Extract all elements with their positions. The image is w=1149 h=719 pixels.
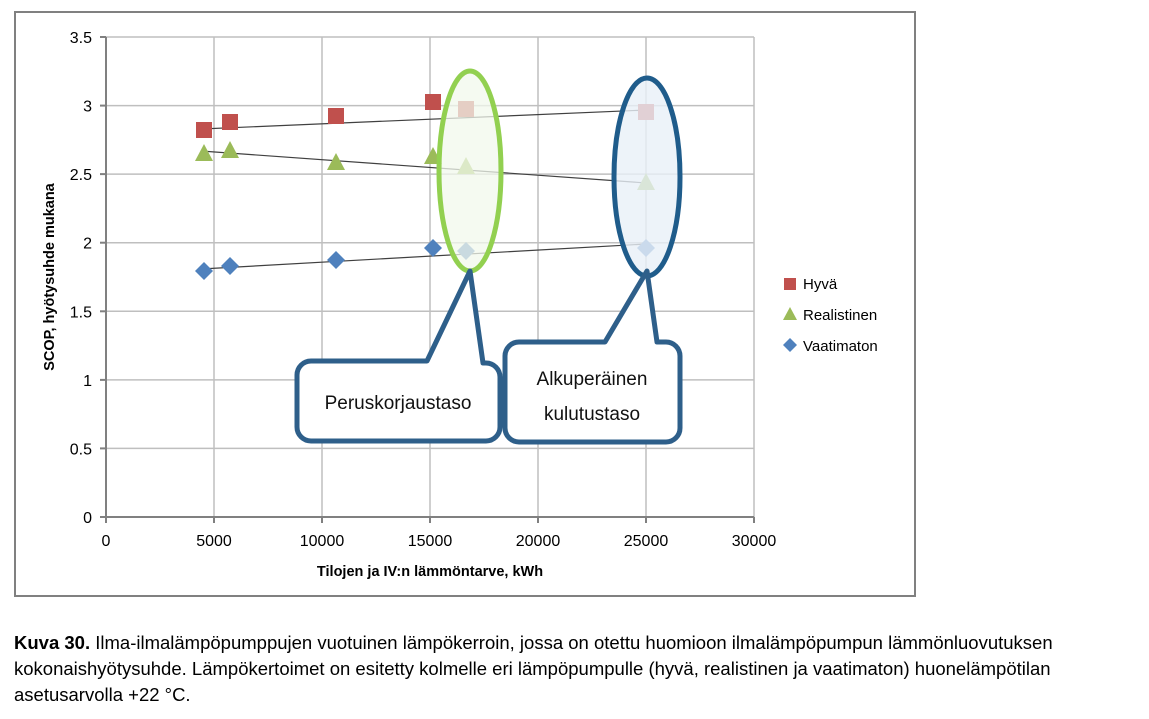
figure-caption-number: Kuva 30.: [14, 632, 90, 653]
legend-item-realistinen[interactable]: Realistinen: [783, 307, 877, 324]
y-tick-label: 2.5: [70, 167, 92, 184]
callout-label-alkuperainen-line1: Alkuperäinen: [537, 369, 648, 390]
x-tick-labels: 0 5000 10000 15000 20000 25000 30000: [102, 533, 777, 550]
y-tick-labels: 3.5 3 2.5 2 1.5 1 0.5 0: [70, 30, 92, 527]
legend-label-realistinen: Realistinen: [803, 307, 877, 324]
figure-page: 3.5 3 2.5 2 1.5 1 0.5 0 0 5000 10000 150…: [0, 0, 1149, 719]
figure-caption: Kuva 30. Ilma-ilmalämpöpumppujen vuotuin…: [14, 630, 1139, 708]
y-tick-label: 1: [83, 373, 92, 390]
legend-item-vaatimaton[interactable]: Vaatimaton: [783, 338, 878, 355]
y-tick-label: 0.5: [70, 441, 92, 458]
legend-label-vaatimaton: Vaatimaton: [803, 338, 878, 355]
x-tick-label: 25000: [624, 533, 669, 550]
highlight-ellipse-alkuperainen-kulutustaso: [614, 78, 680, 276]
x-tick-label: 10000: [300, 533, 345, 550]
x-tick-label: 5000: [196, 533, 232, 550]
callout-label-peruskorjaustaso: Peruskorjaustaso: [325, 393, 472, 414]
y-tick-label: 3: [83, 99, 92, 116]
chart-legend: Hyvä Realistinen Vaatimaton: [783, 276, 878, 355]
x-axis-title: Tilojen ja IV:n lämmöntarve, kWh: [317, 564, 543, 580]
legend-label-hyva: Hyvä: [803, 276, 838, 293]
x-tick-label: 30000: [732, 533, 777, 550]
x-tick-label: 0: [102, 533, 111, 550]
callout-label-alkuperainen-line2: kulutustaso: [544, 404, 640, 425]
legend-item-hyva[interactable]: Hyvä: [784, 276, 838, 293]
y-tick-label: 3.5: [70, 30, 92, 47]
y-tick-label: 2: [83, 236, 92, 253]
data-point-hyva: [328, 108, 344, 124]
y-axis-title: SCOP, hyötysuhde mukana: [42, 182, 58, 370]
legend-swatch-hyva: [784, 278, 796, 290]
legend-swatch-vaatimaton: [783, 338, 797, 352]
x-tick-label: 20000: [516, 533, 561, 550]
data-point-hyva: [196, 122, 212, 138]
chart-frame: 3.5 3 2.5 2 1.5 1 0.5 0 0 5000 10000 150…: [14, 11, 916, 597]
figure-caption-text: Ilma-ilmalämpöpumppujen vuotuinen lämpök…: [14, 632, 1053, 705]
legend-swatch-realistinen: [783, 307, 797, 320]
y-tick-label: 1.5: [70, 304, 92, 321]
chart-canvas: 3.5 3 2.5 2 1.5 1 0.5 0 0 5000 10000 150…: [16, 13, 914, 595]
x-tick-label: 15000: [408, 533, 453, 550]
data-point-hyva: [425, 94, 441, 110]
highlight-ellipse-peruskorjaustaso: [439, 71, 501, 271]
y-tick-label: 0: [83, 510, 92, 527]
data-point-hyva: [222, 114, 238, 130]
